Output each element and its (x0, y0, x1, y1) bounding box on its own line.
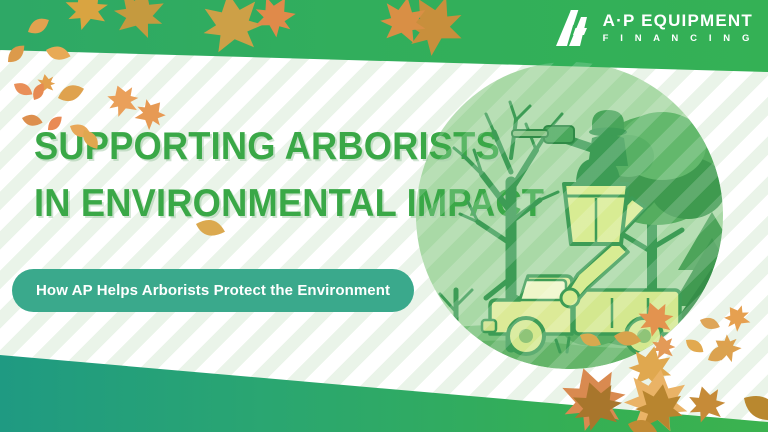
marketing-banner: A·P EQUIPMENT F I N A N C I N G SUPPORTI… (0, 0, 768, 432)
ap-triangle-mark-icon (554, 8, 594, 48)
arborist-illustration (416, 62, 723, 369)
subtitle-text: How AP Helps Arborists Protect the Envir… (36, 282, 390, 299)
brand-logo[interactable]: A·P EQUIPMENT F I N A N C I N G (554, 8, 754, 48)
logo-wordmark: A·P EQUIPMENT F I N A N C I N G (603, 12, 754, 44)
headline-line-2: IN ENVIRONMENTAL IMPACT (34, 175, 406, 232)
illustration-circle (416, 62, 723, 369)
logo-tagline: F I N A N C I N G (603, 34, 754, 44)
headline-line-1: SUPPORTING ARBORISTS (34, 118, 406, 175)
subtitle-pill: How AP Helps Arborists Protect the Envir… (12, 269, 414, 312)
page-title: SUPPORTING ARBORISTS IN ENVIRONMENTAL IM… (34, 118, 434, 232)
logo-company-name: A·P EQUIPMENT (603, 12, 753, 29)
